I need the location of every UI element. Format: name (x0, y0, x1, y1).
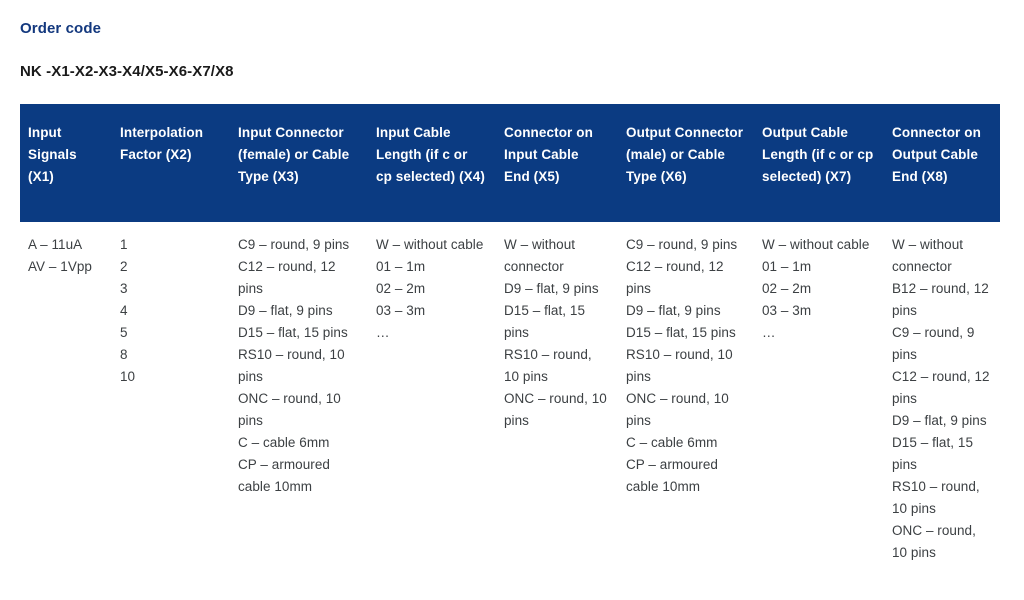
option-item: 8 (120, 344, 220, 366)
option-item: D9 – flat, 9 pins (504, 278, 608, 300)
order-code-table: Input Signals (X1) Interpolation Factor … (20, 104, 1000, 576)
option-item: D9 – flat, 9 pins (626, 300, 744, 322)
option-item: 01 – 1m (376, 256, 486, 278)
option-list-x6: C9 – round, 9 pinsC12 – round, 12 pinsD9… (626, 234, 744, 498)
option-item: D9 – flat, 9 pins (238, 300, 358, 322)
option-item: RS10 – round, 10 pins (504, 344, 608, 388)
option-item: 2 (120, 256, 220, 278)
option-item: D15 – flat, 15 pins (504, 300, 608, 344)
option-list-x1: A – 11uAAV – 1Vpp (28, 234, 102, 278)
option-list-x2: 12345810 (120, 234, 220, 388)
option-item: W – without connector (892, 234, 990, 278)
option-item: RS10 – round, 10 pins (892, 476, 990, 520)
option-item: D15 – flat, 15 pins (238, 322, 358, 344)
table-header: Input Signals (X1) Interpolation Factor … (20, 104, 1000, 222)
option-cell-x3: C9 – round, 9 pinsC12 – round, 12 pinsD9… (230, 222, 368, 576)
column-header-x6: Output Connector (male) or Cable Type (X… (618, 104, 754, 222)
column-header-x8: Connector on Output Cable End (X8) (884, 104, 1000, 222)
option-item: D15 – flat, 15 pins (626, 322, 744, 344)
option-item: … (762, 322, 874, 344)
option-cell-x8: W – without connectorB12 – round, 12 pin… (884, 222, 1000, 576)
option-item: C – cable 6mm (626, 432, 744, 454)
table-header-row: Input Signals (X1) Interpolation Factor … (20, 104, 1000, 222)
option-item: 1 (120, 234, 220, 256)
option-item: W – without cable (762, 234, 874, 256)
option-item: 03 – 3m (762, 300, 874, 322)
option-item: 4 (120, 300, 220, 322)
column-header-x4: Input Cable Length (if c or cp selected)… (368, 104, 496, 222)
option-item: 5 (120, 322, 220, 344)
option-list-x7: W – without cable01 – 1m02 – 2m03 – 3m… (762, 234, 874, 344)
table-body: A – 11uAAV – 1Vpp 12345810 C9 – round, 9… (20, 222, 1000, 576)
option-item: CP – armoured cable 10mm (626, 454, 744, 498)
option-item: C12 – round, 12 pins (892, 366, 990, 410)
order-code-page: Order code NK -X1-X2-X3-X4/X5-X6-X7/X8 I… (0, 0, 1024, 600)
option-item: D9 – flat, 9 pins (892, 410, 990, 432)
option-item: AV – 1Vpp (28, 256, 102, 278)
option-cell-x4: W – without cable01 – 1m02 – 2m03 – 3m… (368, 222, 496, 576)
column-header-x2: Interpolation Factor (X2) (112, 104, 230, 222)
column-header-x7: Output Cable Length (if c or cp selected… (754, 104, 884, 222)
option-item: 02 – 2m (762, 278, 874, 300)
option-item: 01 – 1m (762, 256, 874, 278)
option-item: 02 – 2m (376, 278, 486, 300)
option-item: A – 11uA (28, 234, 102, 256)
option-item: ONC – round, 10 pins (238, 388, 358, 432)
option-item: 03 – 3m (376, 300, 486, 322)
option-cell-x5: W – without connectorD9 – flat, 9 pinsD1… (496, 222, 618, 576)
option-item: ONC – round, 10 pins (892, 520, 990, 564)
column-header-x5: Connector on Input Cable End (X5) (496, 104, 618, 222)
option-item: W – without connector (504, 234, 608, 278)
option-item: 10 (120, 366, 220, 388)
page-title: Order code (20, 20, 101, 38)
column-header-x3: Input Connector (female) or Cable Type (… (230, 104, 368, 222)
option-cell-x6: C9 – round, 9 pinsC12 – round, 12 pinsD9… (618, 222, 754, 576)
option-item: ONC – round, 10 pins (504, 388, 608, 432)
option-list-x3: C9 – round, 9 pinsC12 – round, 12 pinsD9… (238, 234, 358, 498)
option-list-x4: W – without cable01 – 1m02 – 2m03 – 3m… (376, 234, 486, 344)
option-item: C – cable 6mm (238, 432, 358, 454)
option-item: C9 – round, 9 pins (238, 234, 358, 256)
option-item: ONC – round, 10 pins (626, 388, 744, 432)
order-code-pattern: NK -X1-X2-X3-X4/X5-X6-X7/X8 (20, 63, 234, 81)
option-item: … (376, 322, 486, 344)
option-cell-x1: A – 11uAAV – 1Vpp (20, 222, 112, 576)
option-item: C12 – round, 12 pins (626, 256, 744, 300)
option-cell-x7: W – without cable01 – 1m02 – 2m03 – 3m… (754, 222, 884, 576)
option-item: 3 (120, 278, 220, 300)
option-item: W – without cable (376, 234, 486, 256)
option-cell-x2: 12345810 (112, 222, 230, 576)
option-item: RS10 – round, 10 pins (626, 344, 744, 388)
table-row: A – 11uAAV – 1Vpp 12345810 C9 – round, 9… (20, 222, 1000, 576)
option-item: C9 – round, 9 pins (892, 322, 990, 366)
option-item: C9 – round, 9 pins (626, 234, 744, 256)
option-list-x5: W – without connectorD9 – flat, 9 pinsD1… (504, 234, 608, 432)
option-item: CP – armoured cable 10mm (238, 454, 358, 498)
option-item: RS10 – round, 10 pins (238, 344, 358, 388)
option-item: B12 – round, 12 pins (892, 278, 990, 322)
option-item: D15 – flat, 15 pins (892, 432, 990, 476)
option-item: C12 – round, 12 pins (238, 256, 358, 300)
option-list-x8: W – without connectorB12 – round, 12 pin… (892, 234, 990, 564)
column-header-x1: Input Signals (X1) (20, 104, 112, 222)
